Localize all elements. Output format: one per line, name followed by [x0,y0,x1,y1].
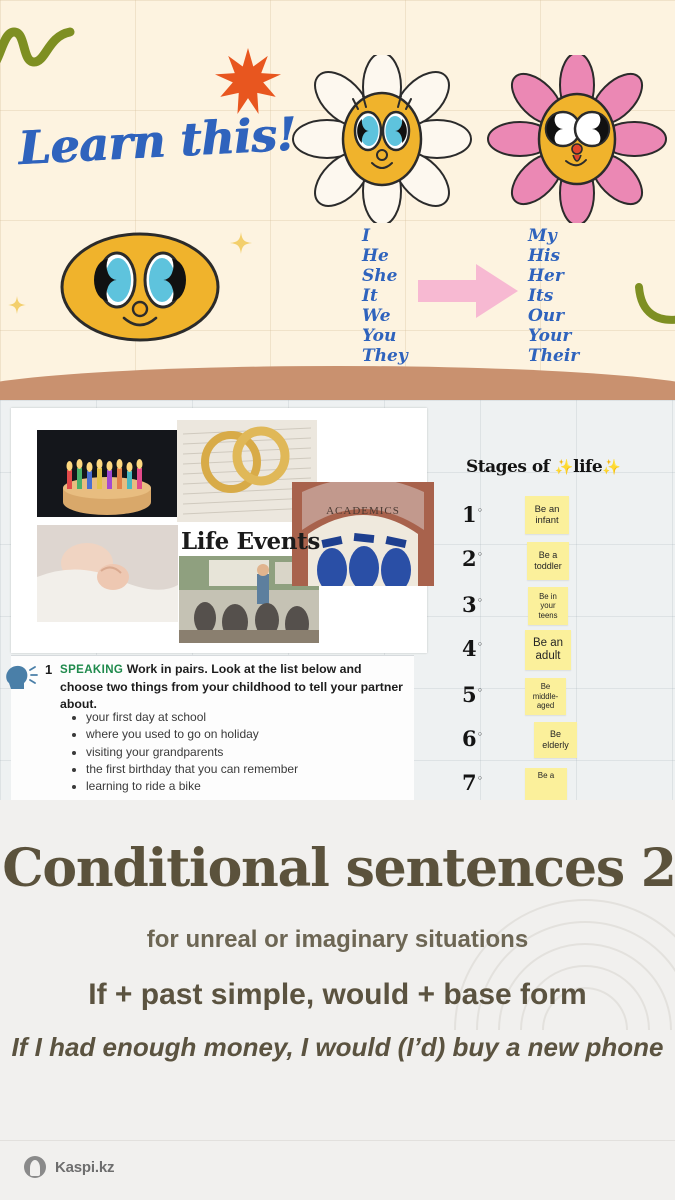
sticky-note[interactable]: Be an infant [525,496,569,534]
conditional-heading: Conditional sentences 2 [0,838,675,899]
olive-squiggle-icon [635,283,675,333]
stages-title-prefix: Stages of [466,457,555,477]
sparkle-emoji: ✨ [602,458,620,476]
pronoun-item: You [362,326,408,346]
birthday-cake-photo [37,430,178,517]
stage-number-value: 7 [462,770,477,795]
list-item: your first day at school [86,709,298,726]
speaking-head-icon [3,661,43,691]
stage-number: 1◦ [462,502,483,527]
stage-row: 1◦ Be an infant [462,496,672,542]
pronoun-item: I [362,226,408,246]
sparkle-emoji: ✨ [555,458,573,476]
exercise-instruction-row: SPEAKING Work in pairs. Look at the list… [60,661,405,713]
pronoun-item: He [362,246,408,266]
stage-number-value: 5 [462,682,477,707]
stage-number: 6◦ [462,726,483,751]
subject-pronoun-column: I He She It We You They [362,226,408,366]
learn-this-title: Learn this! [17,107,297,175]
sticky-note[interactable]: Be an adult [525,630,571,670]
starburst-icon [215,48,281,114]
white-flower-face-icon [292,55,472,223]
possessive-item: Your [528,326,579,346]
sticky-note[interactable]: Be a toddler [527,542,569,580]
stage-number-value: 2 [462,546,477,571]
stage-number: 2◦ [462,546,483,571]
list-item: learning to ride a bike [86,778,298,795]
stage-number: 5◦ [462,682,483,707]
sparkle-icon [8,296,26,314]
list-item: visiting your grandparents [86,744,298,761]
pronoun-item: It [362,286,408,306]
stage-number-value: 4 [462,636,477,661]
pink-flower-face-icon [487,55,667,223]
stages-title-word: life [573,457,602,477]
speaking-exercise-card: 1 SPEAKING Work in pairs. Look at the li… [11,655,414,800]
possessive-item: His [528,246,579,266]
life-events-panel: ACADEMICS Life Events [0,400,675,800]
stage-number: 3◦ [462,592,483,617]
kaspi-logo-icon [24,1156,46,1178]
speaking-tag: SPEAKING [60,664,123,676]
stage-row: 4◦ Be an adult [462,630,672,676]
smiley-face-icon [60,232,220,342]
sticky-note[interactable]: Be middle-aged [525,678,566,715]
stage-row: 3◦ Be in your teens [462,586,672,632]
possessive-item: Its [528,286,579,306]
stage-number: 7◦ [462,770,483,795]
sticky-note[interactable]: Be elderly [534,722,577,758]
pronoun-item: We [362,306,408,326]
exercise-item-list: your first day at school where you used … [68,709,298,795]
sparkle-icon [230,232,252,254]
conditional-formula: If + past simple, would + base form [0,978,675,1012]
pink-arrow-icon [418,262,518,320]
possessive-item: Their [528,346,579,366]
stage-number-value: 1 [462,502,477,527]
stage-row: 6◦ Be elderly [462,720,672,766]
pronoun-item: She [362,266,408,286]
conditional-sentences-panel: Conditional sentences 2 for unreal or im… [0,800,675,1140]
list-item: where you used to go on holiday [86,726,298,743]
stage-row: 5◦ Be middle-aged [462,676,672,722]
screenshot-root: Learn this! [0,0,675,1200]
pronoun-item: They [362,346,408,366]
stage-number: 4◦ [462,636,483,661]
olive-squiggle-icon [0,22,80,70]
conditional-subtitle: for unreal or imaginary situations [0,926,675,954]
stage-number-value: 3 [462,592,477,617]
stage-row: 7◦ Be a [462,764,672,800]
list-item: the first birthday that you can remember [86,761,298,778]
kaspi-brand[interactable]: Kaspi.kz [24,1156,114,1178]
newborn-baby-photo [37,525,178,622]
possessive-item: Our [528,306,579,326]
stages-of-life-title: Stages of ✨life✨ [466,457,620,477]
possessive-adjective-column: My His Her Its Our Your Their [528,226,579,366]
stage-row: 2◦ Be a toddler [462,540,672,586]
conditional-example: If I had enough money, I would (I’d) buy… [0,1032,675,1063]
life-events-title: Life Events [181,528,320,555]
stage-number-value: 6 [462,726,477,751]
sticky-note[interactable]: Be in your teens [528,587,568,625]
possessive-item: My [528,226,579,246]
sticky-note[interactable]: Be a [525,768,567,800]
svg-text:ACADEMICS: ACADEMICS [326,505,400,517]
possessive-item: Her [528,266,579,286]
kaspi-brand-label: Kaspi.kz [55,1159,114,1176]
life-events-slide: ACADEMICS Life Events [11,408,427,653]
learn-this-panel: Learn this! [0,0,675,400]
footer-bar: Kaspi.kz [0,1140,675,1200]
exercise-number: 1 [45,662,52,677]
brown-curve-band [0,366,675,400]
